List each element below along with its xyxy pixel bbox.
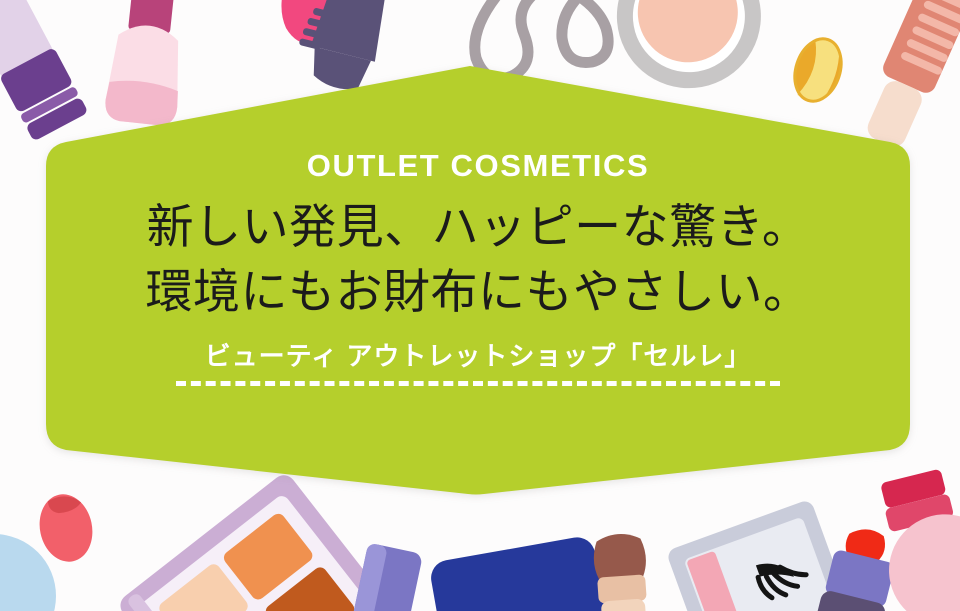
eyebrow-label: OUTLET COSMETICS <box>307 150 650 181</box>
banner-root: OUTLET COSMETICS 新しい発見、ハッピーな驚き。 環境にもお財布に… <box>0 0 960 611</box>
subtitle-label: ビューティ アウトレットショップ「セルレ」 <box>176 342 780 372</box>
subtitle-dashed-rule <box>176 381 780 386</box>
headline-line-2: 環境にもお財布にもやさしい。 <box>146 260 811 327</box>
subtitle-block: ビューティ アウトレットショップ「セルレ」 <box>176 342 780 386</box>
badge-content: OUTLET COSMETICS 新しい発見、ハッピーな驚き。 環境にもお財布に… <box>44 64 912 496</box>
headline-line-1: 新しい発見、ハッピーな驚き。 <box>147 195 810 262</box>
